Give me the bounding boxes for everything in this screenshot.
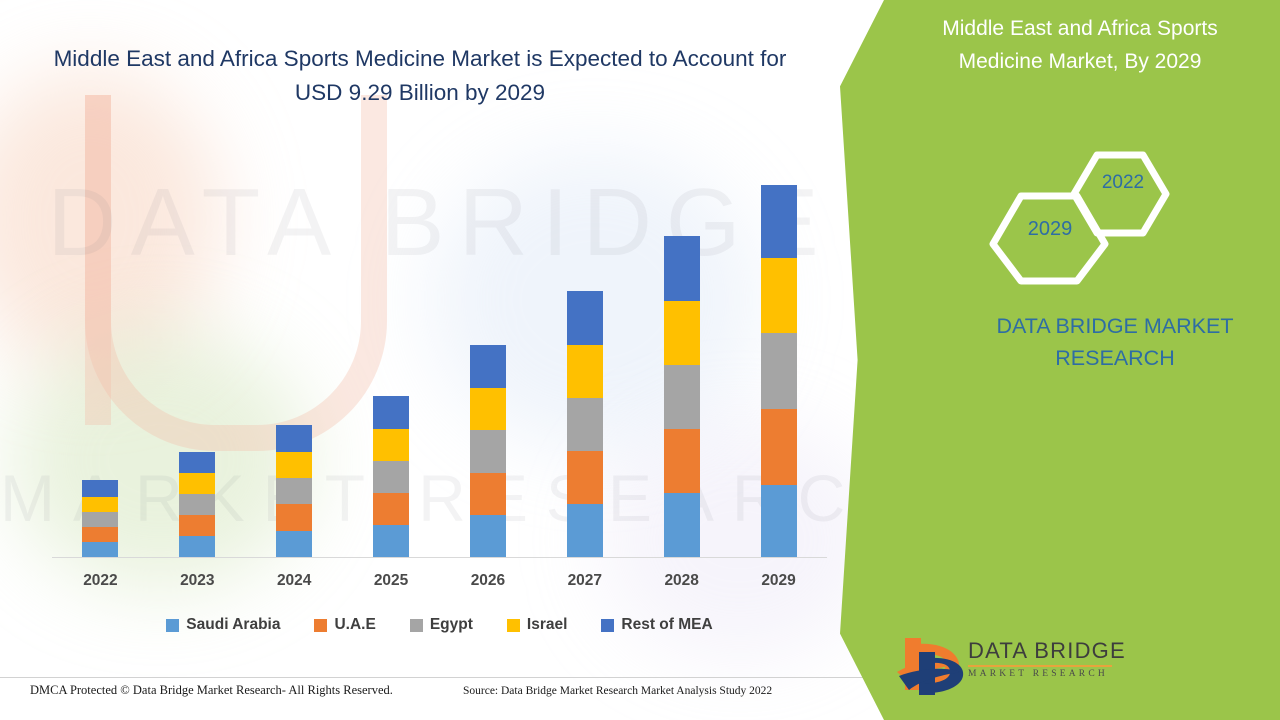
infographic-canvas: DATA BRIDGE MARKET RESEARCH Middle East … (0, 0, 1280, 720)
x-axis-tick-2026: 2026 (470, 572, 506, 590)
x-axis-tick-2027: 2027 (567, 572, 603, 590)
legend-swatch-icon (507, 619, 520, 632)
legend-item: Rest of MEA (601, 616, 712, 634)
bar-segment (82, 480, 118, 497)
legend-item: Saudi Arabia (166, 616, 280, 634)
logo-text-block: DATA BRIDGE MARKET RESEARCH (968, 638, 1148, 679)
bar-segment (470, 345, 506, 388)
panel-brand-name: DATA BRIDGE MARKET RESEARCH (960, 310, 1270, 374)
bar-segment (761, 333, 797, 409)
bar-2028 (664, 236, 700, 557)
legend-item: Egypt (410, 616, 473, 634)
x-axis-tick-2022: 2022 (82, 572, 118, 590)
bar-segment (567, 345, 603, 398)
panel-title: Middle East and Africa Sports Medicine M… (880, 12, 1280, 78)
bar-segment (567, 504, 603, 557)
bar-segment (373, 429, 409, 461)
bar-segment (276, 478, 312, 504)
bar-segment (82, 542, 118, 557)
bar-segment (761, 485, 797, 557)
legend-label: Israel (527, 616, 568, 634)
bar-2025 (373, 396, 409, 557)
x-axis-tick-2028: 2028 (664, 572, 700, 590)
legend-item: Israel (507, 616, 568, 634)
chart-legend: Saudi ArabiaU.A.EEgyptIsraelRest of MEA (52, 616, 827, 634)
bar-2029 (761, 185, 797, 557)
x-axis-line (52, 557, 827, 558)
bar-segment (567, 291, 603, 345)
bar-2023 (179, 452, 215, 557)
bar-segment (82, 527, 118, 542)
hexagon-label-2029: 2029 (1005, 218, 1095, 241)
bar-segment (664, 301, 700, 365)
bar-segment (567, 451, 603, 504)
bar-segment (761, 409, 797, 485)
bar-segment (664, 236, 700, 301)
bar-segment (761, 185, 797, 258)
bar-group (52, 140, 827, 557)
bar-segment (373, 525, 409, 557)
bar-segment (664, 429, 700, 493)
legend-swatch-icon (166, 619, 179, 632)
bar-segment (664, 493, 700, 557)
bar-segment (179, 452, 215, 473)
bar-segment (179, 494, 215, 515)
x-axis-tick-2024: 2024 (276, 572, 312, 590)
logo-divider (968, 665, 1112, 667)
logo-title: DATA BRIDGE (968, 638, 1148, 664)
x-axis-tick-2023: 2023 (179, 572, 215, 590)
bar-segment (276, 452, 312, 478)
bar-segment (373, 493, 409, 525)
bar-segment (664, 365, 700, 429)
legend-label: Saudi Arabia (186, 616, 280, 634)
bar-segment (373, 461, 409, 493)
logo-subtitle: MARKET RESEARCH (968, 669, 1148, 679)
bar-segment (276, 504, 312, 531)
legend-swatch-icon (410, 619, 423, 632)
bar-2024 (276, 425, 312, 557)
bar-2022 (82, 480, 118, 557)
bar-segment (276, 425, 312, 452)
bar-segment (470, 515, 506, 557)
chart-title: Middle East and Africa Sports Medicine M… (40, 42, 800, 110)
chart-plot-area (52, 140, 827, 558)
bar-segment (82, 512, 118, 527)
bar-segment (761, 258, 797, 333)
legend-swatch-icon (314, 619, 327, 632)
x-axis-labels: 20222023202420252026202720282029 (52, 572, 827, 590)
footer-divider (0, 677, 880, 678)
bar-segment (567, 398, 603, 451)
bar-2027 (567, 291, 603, 557)
bar-segment (470, 430, 506, 473)
footer-copyright: DMCA Protected © Data Bridge Market Rese… (30, 683, 393, 698)
legend-swatch-icon (601, 619, 614, 632)
hexagon-badges: 2029 2022 (985, 148, 1200, 288)
x-axis-tick-2025: 2025 (373, 572, 409, 590)
legend-item: U.A.E (314, 616, 375, 634)
bar-segment (179, 536, 215, 557)
bar-segment (179, 515, 215, 536)
bar-segment (470, 473, 506, 515)
bar-2026 (470, 345, 506, 557)
legend-label: Rest of MEA (621, 616, 712, 634)
legend-label: Egypt (430, 616, 473, 634)
x-axis-tick-2029: 2029 (761, 572, 797, 590)
bar-segment (276, 531, 312, 557)
bar-segment (470, 388, 506, 430)
bar-segment (179, 473, 215, 494)
bar-segment (82, 497, 118, 512)
footer-source: Source: Data Bridge Market Research Mark… (463, 685, 772, 697)
legend-label: U.A.E (334, 616, 375, 634)
hexagon-label-2022: 2022 (1083, 172, 1163, 194)
bar-segment (373, 396, 409, 429)
